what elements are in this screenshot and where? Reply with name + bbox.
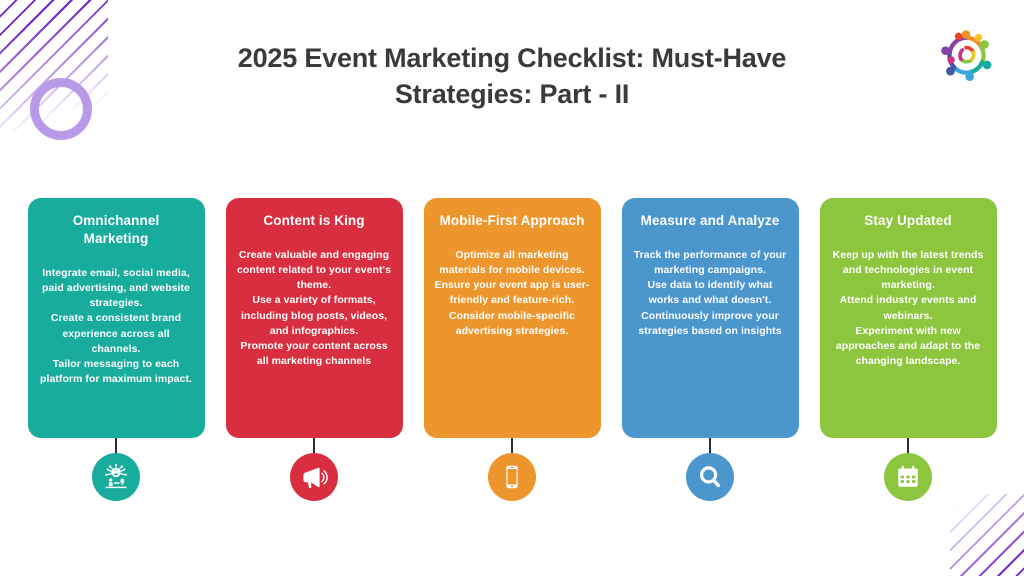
card-body: Optimize all marketing materials for mob… [435,248,590,339]
card-title: Stay Updated [831,212,986,230]
megaphone-icon[interactable] [290,453,338,501]
top-left-ring-decoration [30,78,92,140]
bottom-right-stripes-decoration [950,494,1024,576]
card-body: Track the performance of your marketing … [633,248,788,339]
card-mobile-first-approach[interactable]: Mobile-First Approach Optimize all marke… [424,198,601,438]
card-measure-and-analyze[interactable]: Measure and Analyze Track the performanc… [622,198,799,438]
infographic-canvas: 2025 Event Marketing Checklist: Must-Hav… [0,0,1024,576]
card-title: Content is King [237,212,392,230]
card-title: Measure and Analyze [633,212,788,230]
card-body: Create valuable and engaging content rel… [237,248,392,370]
page-title: 2025 Event Marketing Checklist: Must-Hav… [140,40,884,113]
page-title-line-2: Strategies: Part - II [395,79,629,109]
card-column-mobile-first-approach: Mobile-First Approach Optimize all marke… [424,198,601,438]
card-column-omnichannel-marketing: Omnichannel Marketing Integrate email, s… [28,198,205,438]
card-stay-updated[interactable]: Stay Updated Keep up with the latest tre… [820,198,997,438]
card-title: Mobile-First Approach [435,212,590,230]
card-body: Keep up with the latest trends and techn… [831,248,986,370]
card-column-stay-updated: Stay Updated Keep up with the latest tre… [820,198,997,438]
omnichannel-network-icon[interactable] [92,453,140,501]
card-column-measure-and-analyze: Measure and Analyze Track the performanc… [622,198,799,438]
card-column-content-is-king: Content is King Create valuable and enga… [226,198,403,438]
card-content-is-king[interactable]: Content is King Create valuable and enga… [226,198,403,438]
page-title-line-1: 2025 Event Marketing Checklist: Must-Hav… [238,43,787,73]
card-title: Omnichannel Marketing [39,212,194,248]
card-omnichannel-marketing[interactable]: Omnichannel Marketing Integrate email, s… [28,198,205,438]
magnifying-glass-icon[interactable] [686,453,734,501]
card-row: Omnichannel Marketing Integrate email, s… [0,198,1024,438]
card-body: Integrate email, social media, paid adve… [39,266,194,388]
people-circle-logo [934,24,998,86]
calendar-icon[interactable] [884,453,932,501]
smartphone-icon[interactable] [488,453,536,501]
